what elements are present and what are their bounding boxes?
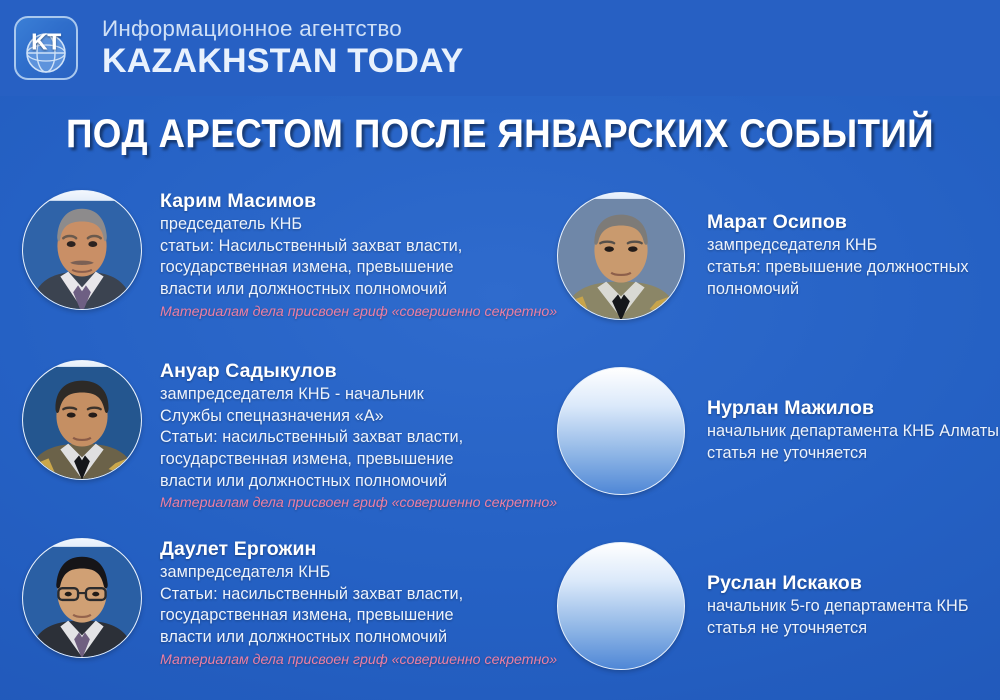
person-entry: Нурлан Мажилов начальник департамента КН… <box>557 365 1000 497</box>
secret-note: Материалам дела присвоен гриф «совершенн… <box>160 493 557 514</box>
person-name: Даулет Ергожин <box>160 538 557 561</box>
portrait-photo <box>23 191 141 309</box>
person-name: Марат Осипов <box>707 211 969 234</box>
person-info: Карим Масимов председатель КНБ статьи: Н… <box>142 190 557 322</box>
person-line: государственная измена, превышение <box>160 449 557 471</box>
person-info: Даулет Ергожин зампредседателя КНБ Стать… <box>142 538 557 670</box>
person-line: полномочий <box>707 279 969 301</box>
person-line: Статьи: насильственный захват власти, <box>160 584 557 606</box>
people-column-right: Марат Осипов зампредседателя КНБ статья:… <box>500 182 1000 700</box>
person-line: государственная измена, превышение <box>160 605 557 627</box>
person-line: статья: превышение должностных <box>707 257 969 279</box>
person-name: Ануар Садыкулов <box>160 360 557 383</box>
portrait-photo <box>23 539 141 657</box>
kazakhstan-today-logo[interactable]: KT <box>14 16 78 80</box>
person-line: зампредседателя КНБ <box>160 562 557 584</box>
person-line: власти или должностных полномочий <box>160 279 557 301</box>
avatar <box>557 192 685 320</box>
person-entry: Марат Осипов зампредседателя КНБ статья:… <box>557 190 1000 322</box>
person-entry: Руслан Искаков начальник 5-го департамен… <box>557 540 1000 672</box>
person-line: статья не уточняется <box>707 443 999 465</box>
person-line: начальник 5-го департамента КНБ <box>707 596 969 618</box>
person-name: Карим Масимов <box>160 190 557 213</box>
secret-note: Материалам дела присвоен гриф «совершенн… <box>160 302 557 323</box>
person-entry: Карим Масимов председатель КНБ статьи: Н… <box>22 190 492 322</box>
brand-block: Информационное агентство KAZAKHSTAN TODA… <box>102 18 463 79</box>
person-line: статьи: Насильственный захват власти, <box>160 236 557 258</box>
person-line: зампредседателя КНБ <box>707 235 969 257</box>
person-line: Службы спецназначения «А» <box>160 406 557 428</box>
person-line: статья не уточняется <box>707 618 969 640</box>
person-line: власти или должностных полномочий <box>160 627 557 649</box>
person-entry: Ануар Садыкулов зампредседателя КНБ - на… <box>22 360 492 514</box>
person-name: Руслан Искаков <box>707 572 969 595</box>
secret-note: Материалам дела присвоен гриф «совершенн… <box>160 650 557 671</box>
avatar <box>22 360 142 480</box>
portrait-photo <box>23 361 141 479</box>
person-line: Статьи: насильственный захват власти, <box>160 427 557 449</box>
people-column-left: Карим Масимов председатель КНБ статьи: Н… <box>0 182 500 700</box>
person-info: Ануар Садыкулов зампредседателя КНБ - на… <box>142 360 557 514</box>
logo-kt-text: KT <box>31 29 61 56</box>
person-line: председатель КНБ <box>160 214 557 236</box>
person-info: Марат Осипов зампредседателя КНБ статья:… <box>685 211 969 300</box>
person-line: власти или должностных полномочий <box>160 471 557 493</box>
person-line: государственная измена, превышение <box>160 257 557 279</box>
person-name: Нурлан Мажилов <box>707 397 999 420</box>
brand-name: KAZAKHSTAN TODAY <box>102 44 463 78</box>
avatar <box>22 538 142 658</box>
avatar-placeholder <box>557 542 685 670</box>
avatar-placeholder <box>557 367 685 495</box>
infographic-poster: KT Информационное агентство KAZAKHSTAN T… <box>0 0 1000 700</box>
person-line: зампредседателя КНБ - начальник <box>160 384 557 406</box>
person-line: начальник департамента КНБ Алматы <box>707 421 999 443</box>
person-info: Руслан Искаков начальник 5-го департамен… <box>685 572 969 639</box>
person-info: Нурлан Мажилов начальник департамента КН… <box>685 397 999 464</box>
brand-tagline: Информационное агентство <box>102 18 463 41</box>
portrait-photo <box>558 193 684 319</box>
page-title: ПОД АРЕСТОМ ПОСЛЕ ЯНВАРСКИХ СОБЫТИЙ <box>40 112 960 157</box>
header-bar: KT Информационное агентство KAZAKHSTAN T… <box>0 0 1000 96</box>
avatar <box>22 190 142 310</box>
person-entry: Даулет Ергожин зампредседателя КНБ Стать… <box>22 538 492 670</box>
